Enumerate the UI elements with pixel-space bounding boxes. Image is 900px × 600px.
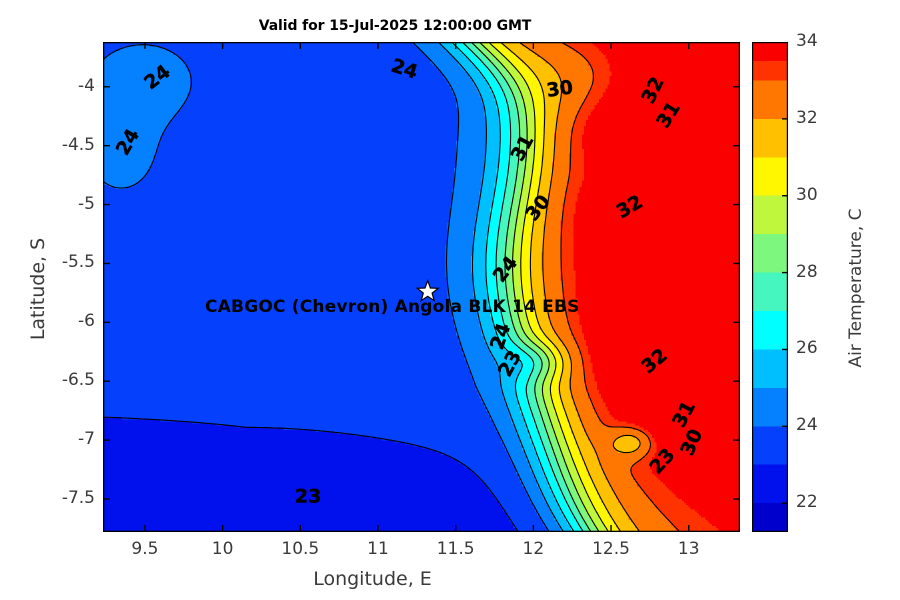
colorbar-band-6 [752,273,788,311]
colorbar-tick-label: 24 [796,415,836,435]
colorbar-band-3 [752,388,788,426]
colorbar-band-10 [752,119,788,157]
colorbar-band-13 [752,42,788,61]
colorbar-tick-label: 32 [796,108,836,128]
colorbar-band-12 [752,61,788,80]
y-tick-label: -7 [11,429,95,449]
y-tick-label: -6.5 [11,370,95,390]
x-axis-label: Longitude, E [0,568,745,590]
x-tick-label: 12 [493,539,573,559]
colorbar-band-9 [752,157,788,195]
colorbar-tick-label: 22 [796,492,836,512]
y-tick-label: -5.5 [11,252,95,272]
colorbar-band-5 [752,311,788,349]
x-tick-label: 11 [338,539,418,559]
contour-label: 30 [545,76,574,101]
contour-plot-area[interactable]: 2424243130323132323130232323242430 [103,42,740,532]
figure-canvas: Valid for 15-Jul-2025 12:00:00 GMT 24242… [0,0,900,600]
page-title: Valid for 15-Jul-2025 12:00:00 GMT [0,18,790,34]
colorbar-svg [752,42,788,532]
y-tick-label: -4.5 [11,135,95,155]
colorbar-band-11 [752,80,788,118]
colorbar[interactable] [752,42,788,532]
colorbar-band-8 [752,196,788,234]
colorbar-band-0 [752,503,788,532]
x-tick-label: 10 [183,539,263,559]
y-tick-label: -5 [11,194,95,214]
y-tick-label: -4 [11,76,95,96]
colorbar-band-2 [752,426,788,464]
colorbar-label: Air Temperature, C [846,158,866,418]
x-tick-label: 13 [649,539,729,559]
station-label: CABGOC (Chevron) Angola BLK 14 EBS [205,297,580,317]
colorbar-tick-label: 30 [796,185,836,205]
x-tick-label: 12.5 [571,539,651,559]
colorbar-band-1 [752,465,788,503]
x-tick-label: 10.5 [260,539,340,559]
contour-label: 23 [295,486,321,508]
colorbar-tick-label: 26 [796,338,836,358]
y-tick-label: -7.5 [11,488,95,508]
x-tick-label: 9.5 [105,539,185,559]
colorbar-band-4 [752,349,788,387]
colorbar-tick-label: 28 [796,262,836,282]
x-tick-label: 11.5 [416,539,496,559]
colorbar-band-7 [752,234,788,272]
contour-map-svg: 2424243130323132323130232323242430 [103,42,740,532]
y-tick-label: -6 [11,311,95,331]
colorbar-tick-label: 34 [796,31,836,51]
